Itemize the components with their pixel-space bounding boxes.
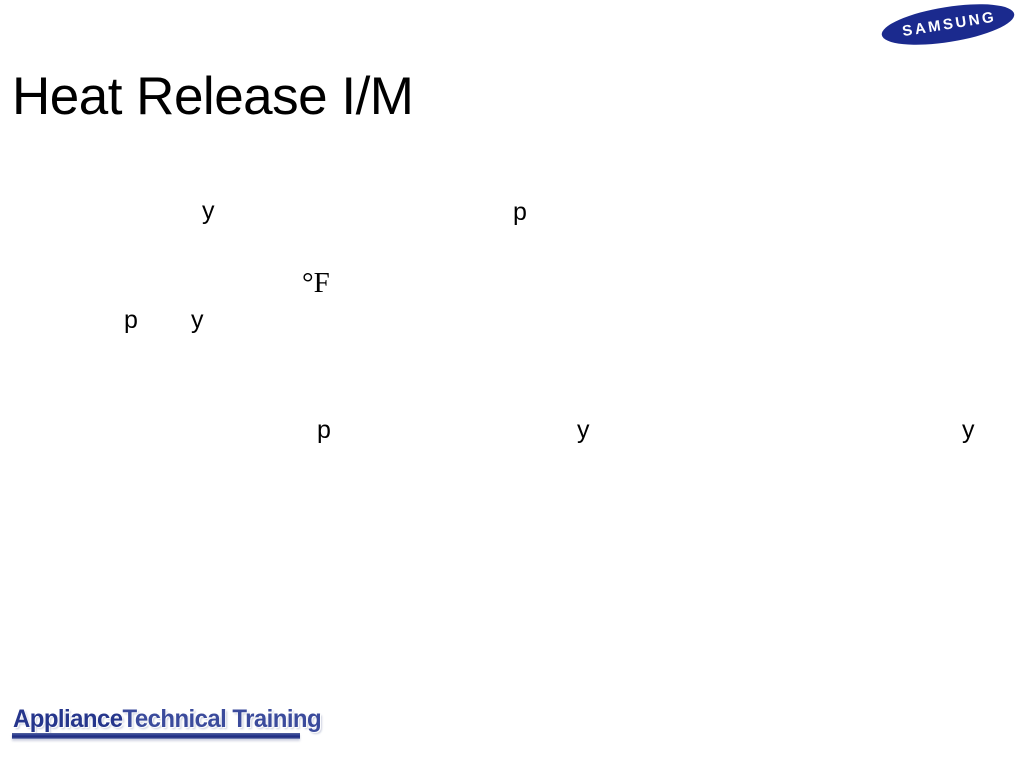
slide-canvas: SAMSUNG Heat Release I/M yp°Fpypyy Appli…: [0, 0, 1021, 765]
footer-logo-text: ApplianceTechnical Training: [13, 706, 321, 734]
body-glyph: y: [202, 199, 215, 224]
body-glyph: y: [191, 308, 204, 333]
body-glyph: y: [577, 418, 590, 443]
page-title: Heat Release I/M: [12, 70, 413, 123]
footer-logo-word-appliance: Appliance: [13, 705, 123, 733]
body-glyph: p: [317, 418, 331, 443]
body-glyph: p: [124, 308, 138, 333]
samsung-wordmark-text: SAMSUNG: [899, 9, 998, 39]
footer-logo: ApplianceTechnical Training: [12, 706, 312, 746]
body-glyph: y: [962, 418, 975, 443]
body-glyph: °F: [302, 269, 330, 298]
footer-logo-word-technical-training: Technical Training: [123, 705, 322, 733]
samsung-logo: SAMSUNG: [881, 4, 1017, 46]
samsung-wordmark: SAMSUNG: [879, 0, 1018, 55]
body-glyph: p: [513, 200, 527, 225]
footer-logo-underline-bar: [12, 733, 300, 739]
